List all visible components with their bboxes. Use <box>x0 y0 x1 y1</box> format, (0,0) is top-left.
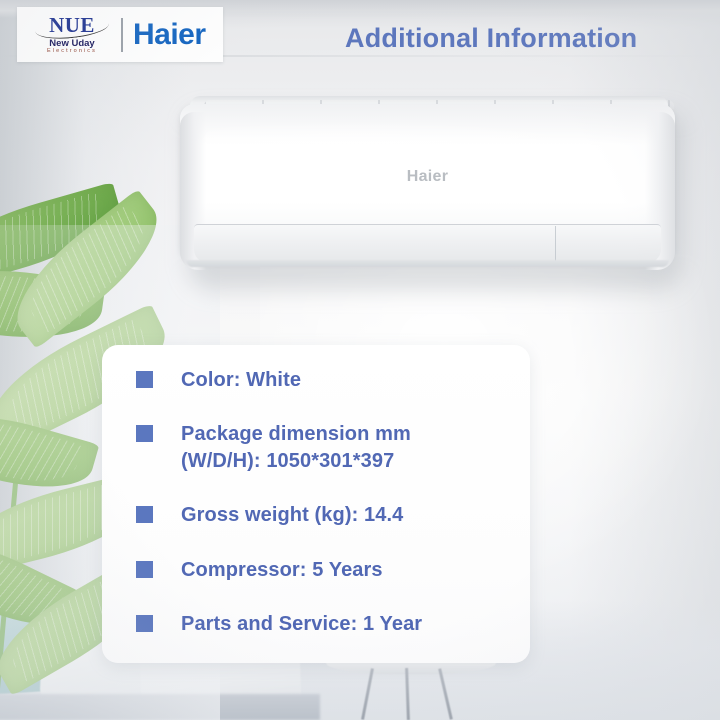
ac-bottom-edge <box>186 260 669 267</box>
list-item: Color: White <box>136 367 504 393</box>
ac-brand-label: Haier <box>180 168 675 186</box>
spec-label: Compressor: 5 Years <box>181 557 383 583</box>
specifications-list: Color: White Package dimension mm(W/D/H)… <box>136 367 504 637</box>
table-leg <box>438 668 453 719</box>
retailer-subtitle: Electronics <box>29 49 115 55</box>
brand-logo: Haier <box>133 18 206 52</box>
list-item: Parts and Service: 1 Year <box>136 611 504 637</box>
bullet-square-icon <box>136 506 153 523</box>
spec-label-line1: Package dimension mm <box>181 423 411 445</box>
list-item: Gross weight (kg): 14.4 <box>136 502 504 528</box>
logo-badge: NUE New Uday Electronics Haier <box>17 7 223 62</box>
retailer-logo: NUE New Uday Electronics <box>29 15 115 55</box>
retailer-monogram-text: NUE <box>49 13 95 37</box>
table-leg <box>361 668 374 720</box>
spec-label: Package dimension mm(W/D/H): 1050*301*39… <box>181 421 411 474</box>
specifications-card: Color: White Package dimension mm(W/D/H)… <box>102 345 530 663</box>
spec-label-line2: (W/D/H): 1050*301*397 <box>181 448 411 474</box>
spec-label: Color: White <box>181 367 301 393</box>
badge-divider <box>121 18 123 52</box>
product-info-banner: Haier NUE New Uday Electronics Haier Add… <box>0 0 720 720</box>
spec-label: Parts and Service: 1 Year <box>181 611 422 637</box>
air-conditioner-unit: Haier <box>180 96 675 278</box>
ac-louver-seam <box>555 226 556 262</box>
list-item: Compressor: 5 Years <box>136 557 504 583</box>
bullet-square-icon <box>136 425 153 442</box>
bullet-square-icon <box>136 371 153 388</box>
retailer-monogram: NUE <box>29 15 115 36</box>
bullet-square-icon <box>136 561 153 578</box>
page-title: Additional Information <box>345 23 637 54</box>
spec-label: Gross weight (kg): 14.4 <box>181 502 403 528</box>
table-leg <box>405 668 410 720</box>
list-item: Package dimension mm(W/D/H): 1050*301*39… <box>136 421 504 474</box>
bullet-square-icon <box>136 615 153 632</box>
ac-air-louver <box>194 224 661 263</box>
retailer-name: New Uday <box>29 39 115 49</box>
